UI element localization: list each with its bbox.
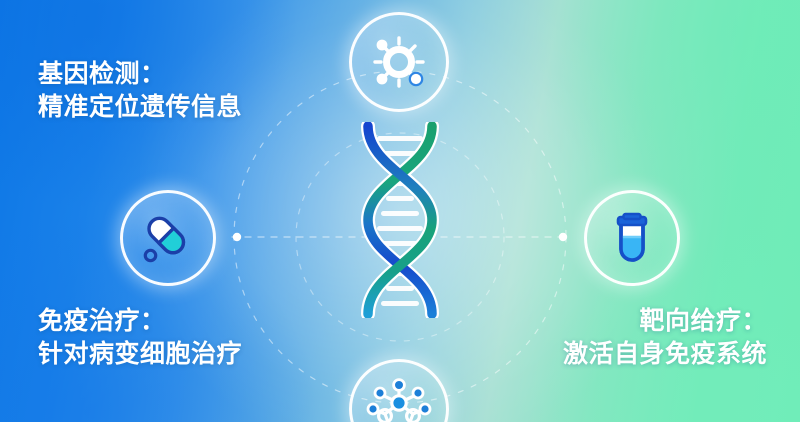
badge-capsule-pill[interactable] <box>120 190 216 286</box>
caption-targeted-delivery: 靶向给疗： 激活自身免疫系统 <box>563 305 767 371</box>
caption-title: 靶向给疗： <box>563 305 767 338</box>
caption-title: 基因检测： <box>38 58 242 91</box>
caption-gene-testing: 基因检测： 精准定位遗传信息 <box>38 58 242 124</box>
dna-double-helix <box>355 122 445 318</box>
test-tube-icon <box>604 210 660 266</box>
molecule-network-icon <box>366 376 432 422</box>
caption-subtitle: 激活自身免疫系统 <box>563 338 767 371</box>
virus-cell-icon <box>368 31 430 93</box>
caption-subtitle: 针对病变细胞治疗 <box>38 338 242 371</box>
capsule-pill-icon <box>139 209 197 267</box>
caption-subtitle: 精准定位遗传信息 <box>38 91 242 124</box>
infographic-poster: 基因检测： 精准定位遗传信息 免疫治疗： 针对病变细胞治疗 靶向给疗： 激活自身… <box>0 0 800 422</box>
caption-immunotherapy: 免疫治疗： 针对病变细胞治疗 <box>38 305 242 371</box>
badge-virus-cell[interactable] <box>349 12 449 112</box>
badge-test-tube[interactable] <box>584 190 680 286</box>
caption-title: 免疫治疗： <box>38 305 242 338</box>
